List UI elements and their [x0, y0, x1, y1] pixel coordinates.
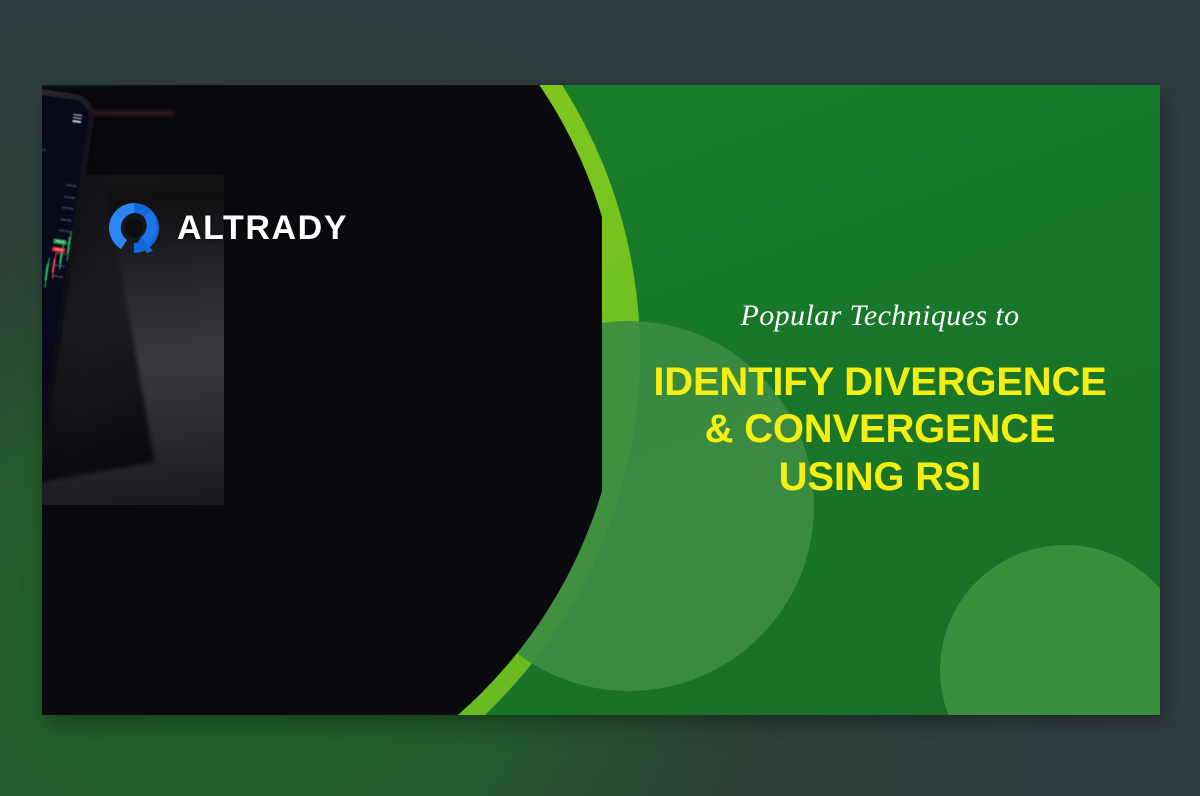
- hero-photo: Ethereum USD-ETH Binance Bid 2,082.FN As…: [42, 85, 602, 715]
- headline-line-2: & CONVERGENCE: [653, 406, 1106, 452]
- sell-tab[interactable]: Sell: [42, 384, 47, 403]
- menu-icon[interactable]: [72, 114, 82, 125]
- price-tick: 2160.000: [51, 181, 77, 188]
- price-tick: 2000.000: [44, 227, 70, 234]
- app-header: Ethereum USD-ETH Binance Bid 2,082.FN As…: [42, 92, 89, 142]
- buy-sell-tabs[interactable]: Buy Sell: [42, 372, 47, 403]
- price-tick: 2040.000: [46, 215, 72, 222]
- poster-canvas: Ethereum USD-ETH Binance Bid 2,082.FN As…: [0, 0, 1200, 796]
- headline-block: Popular Techniques to IDENTIFY DIVERGENC…: [600, 85, 1160, 715]
- brand-lockup: ALTRADY: [107, 201, 348, 255]
- price-tick: 1960.000: [42, 238, 68, 245]
- eyebrow-text: Popular Techniques to: [741, 299, 1020, 333]
- headline-line-3: USING RSI: [653, 454, 1106, 500]
- headline-line-1: IDENTIFY DIVERGENCE: [653, 359, 1106, 405]
- price-tick: 2120.000: [49, 193, 75, 200]
- price-tick: 1920.000: [42, 250, 67, 257]
- photo-circle-mask: Ethereum USD-ETH Binance Bid 2,082.FN As…: [42, 85, 622, 715]
- headline-text: IDENTIFY DIVERGENCE & CONVERGENCE USING …: [653, 359, 1106, 500]
- price-tick: 1840.000: [42, 272, 63, 279]
- tab-closed[interactable]: Closed: [42, 147, 45, 155]
- price-tick: 1880.000: [42, 261, 65, 268]
- price-tick: 2080.000: [47, 204, 73, 211]
- brand-name: ALTRADY: [177, 209, 348, 248]
- altrady-logo-icon: [107, 201, 161, 255]
- banner-card: Ethereum USD-ETH Binance Bid 2,082.FN As…: [42, 85, 1160, 715]
